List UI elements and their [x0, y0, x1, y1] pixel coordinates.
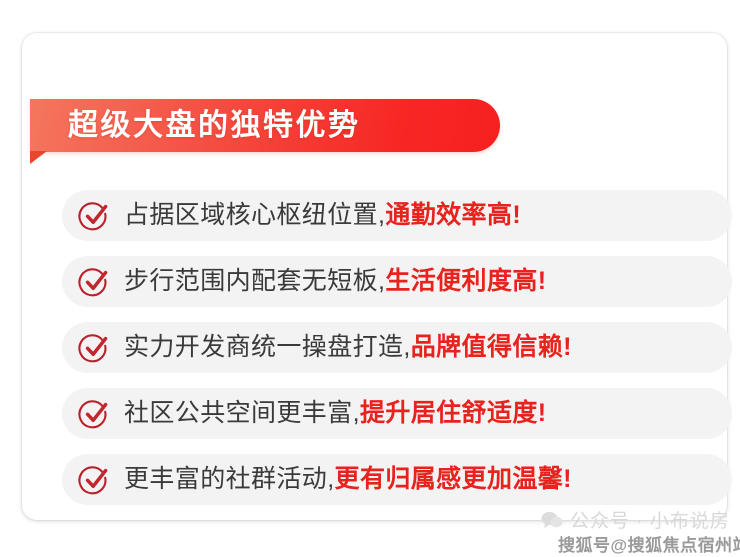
watermark-sohu: 搜狐号@搜狐焦点宿州站 [558, 531, 740, 556]
circle-check-icon [78, 199, 112, 233]
list-item: 实力开发商统一操盘打造, 品牌值得信赖! [62, 322, 732, 373]
list-item: 步行范围内配套无短板, 生活便利度高! [62, 256, 732, 307]
ribbon-banner: 超级大盘的独特优势 [30, 99, 500, 152]
feature-text-normal: 步行范围内配套无短板, [124, 269, 385, 294]
feature-text-accent: 品牌值得信赖! [411, 335, 572, 360]
circle-check-icon [78, 463, 112, 497]
feature-text-accent: 更有归属感更加温馨! [335, 467, 572, 492]
list-item: 社区公共空间更丰富, 提升居住舒适度! [62, 388, 732, 439]
feature-text-accent: 生活便利度高! [385, 269, 546, 294]
feature-text-normal: 实力开发商统一操盘打造, [124, 335, 411, 360]
circle-check-icon [78, 397, 112, 431]
feature-text-normal: 更丰富的社群活动, [124, 467, 335, 492]
feature-list: 占据区域核心枢纽位置, 通勤效率高! 步行范围内配套无短板, 生活便利度高! 实… [62, 190, 732, 505]
ribbon-fold-triangle [30, 151, 47, 164]
circle-check-icon [78, 265, 112, 299]
list-item: 更丰富的社群活动, 更有归属感更加温馨! [62, 454, 732, 505]
feature-text-accent: 通勤效率高! [385, 203, 521, 228]
feature-text-normal: 社区公共空间更丰富, [124, 401, 360, 426]
feature-text-normal: 占据区域核心枢纽位置, [124, 203, 385, 228]
feature-text-accent: 提升居住舒适度! [360, 401, 547, 426]
page-title: 超级大盘的独特优势 [30, 111, 361, 141]
ribbon-header: 超级大盘的独特优势 [30, 99, 500, 152]
circle-check-icon [78, 331, 112, 365]
poster-card: 超级大盘的独特优势 占据区域核心枢纽位置, 通勤效率高! 步行范围内配套无短板,… [22, 33, 727, 520]
list-item: 占据区域核心枢纽位置, 通勤效率高! [62, 190, 732, 241]
